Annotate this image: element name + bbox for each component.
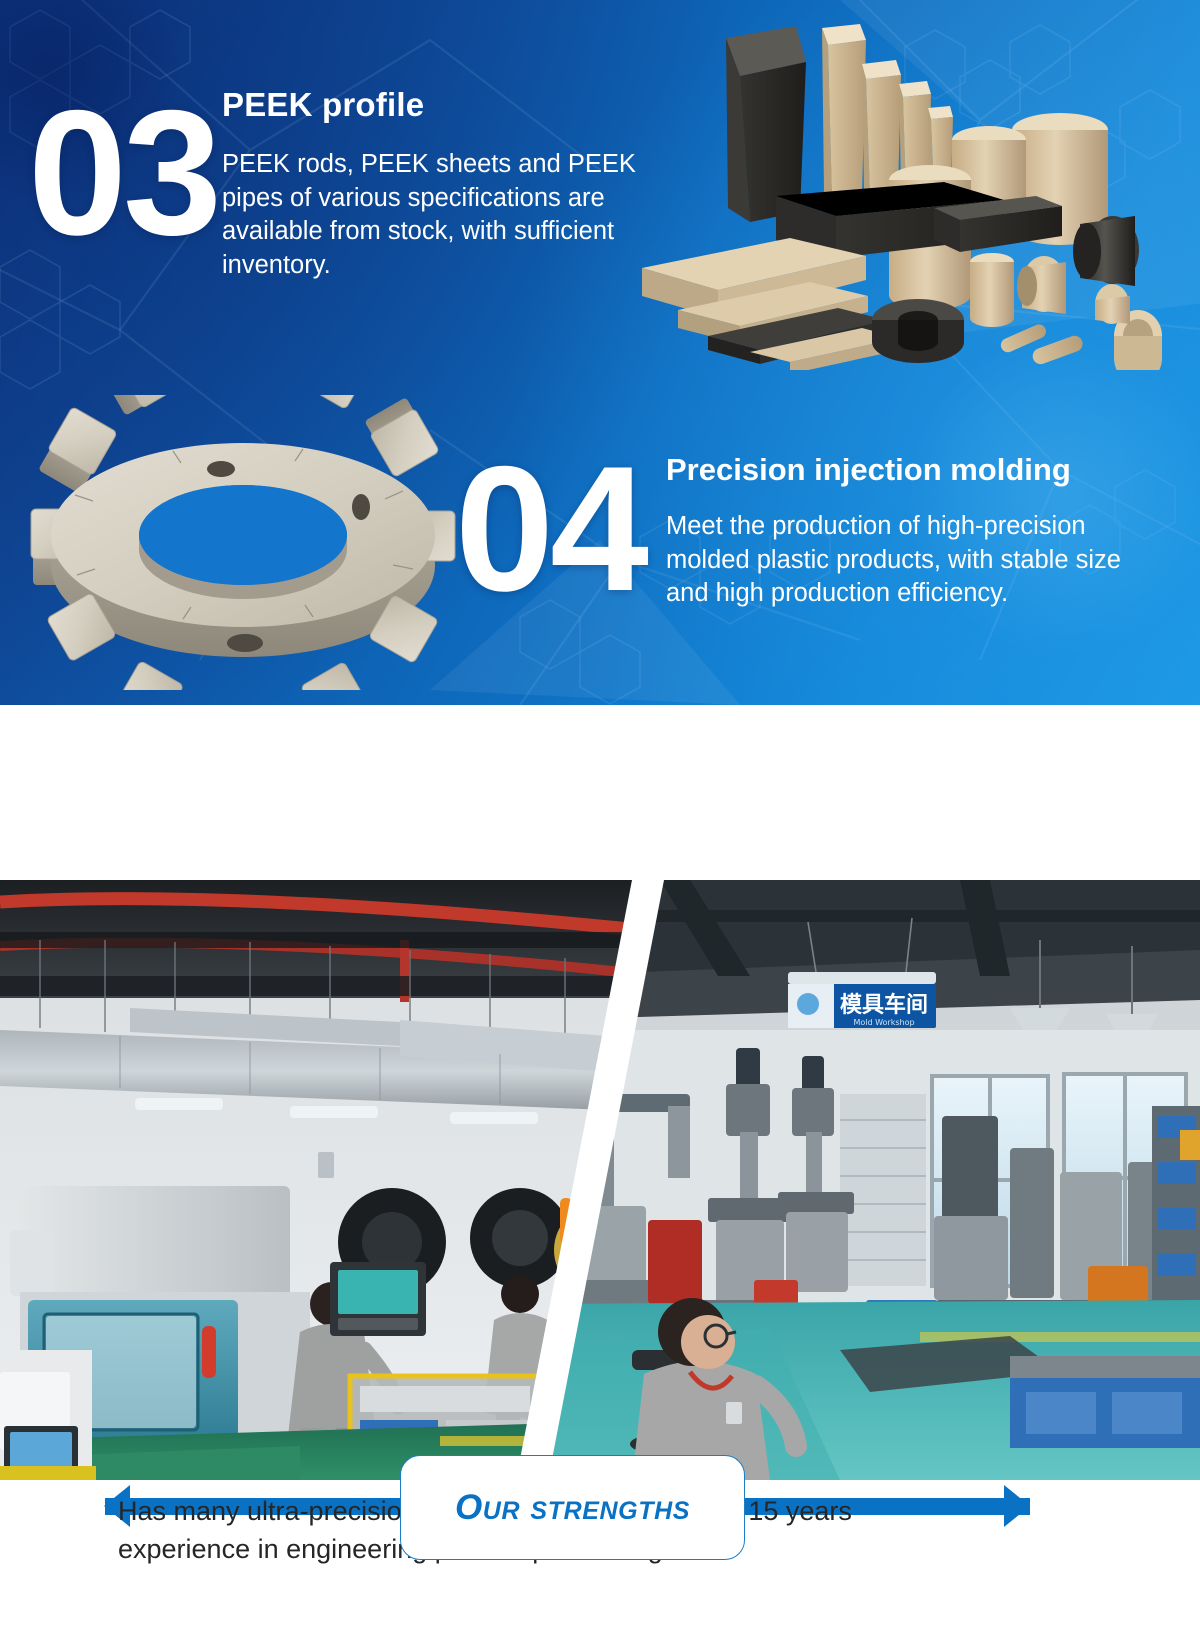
block-title-04: Precision injection molding <box>666 452 1186 488</box>
block-body-03: PEEK rods, PEEK sheets and PEEK pipes of… <box>222 148 652 283</box>
tan-cylinder-short <box>970 253 1014 327</box>
strengths-title: Our strengths <box>455 1488 690 1528</box>
block-number-04: 04 <box>455 440 645 618</box>
strengths-band: Our strengths <box>0 705 1200 880</box>
peek-gear-ring-part-photo <box>18 395 468 690</box>
black-tube <box>1073 216 1139 286</box>
block-number-03: 03 <box>28 84 218 262</box>
tan-cup-tube <box>1095 284 1162 370</box>
block-body-04: Meet the production of high-precision mo… <box>666 510 1136 611</box>
black-ring <box>872 299 964 363</box>
mold-workshop-photo: 模具车间 Mold Workshop <box>540 880 1200 1480</box>
black-block <box>726 26 806 222</box>
factory-photos: 模具车间 Mold Workshop <box>0 880 1200 1480</box>
tan-rods-small <box>999 322 1085 366</box>
workbench <box>1010 1356 1200 1448</box>
strengths-title-box: Our strengths <box>400 1455 745 1560</box>
svg-text:模具车间: 模具车间 <box>840 992 928 1018</box>
tan-sheets-stack <box>642 238 900 370</box>
peek-profile-products-photo <box>600 0 1200 370</box>
storage-shelving <box>1152 1106 1200 1306</box>
hero-section: 03 PEEK profile PEEK rods, PEEK sheets a… <box>0 0 1200 705</box>
block-title-03: PEEK profile <box>222 86 652 124</box>
tan-tube-small <box>1017 256 1066 314</box>
svg-text:Mold Workshop: Mold Workshop <box>853 1018 914 1027</box>
